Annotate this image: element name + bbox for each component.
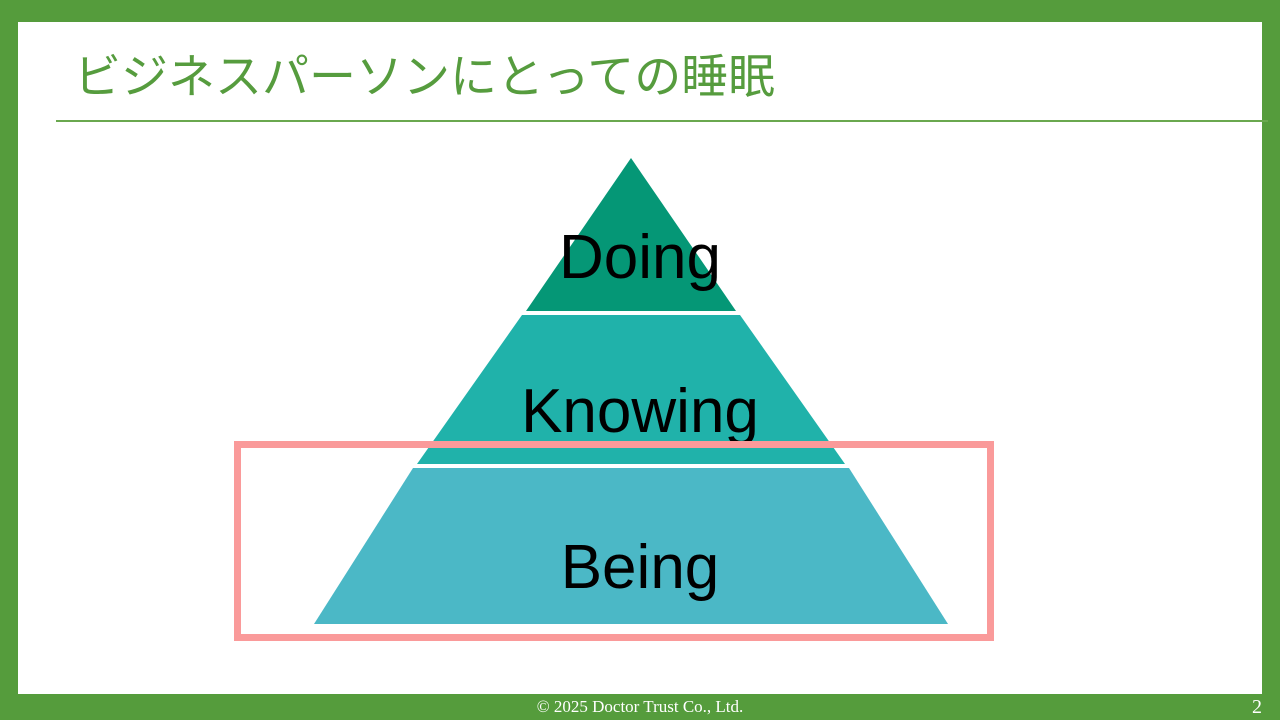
pyramid-tier-doing[interactable]	[526, 158, 736, 311]
page-number: 2	[1252, 694, 1262, 720]
slide: ビジネスパーソンにとっての睡眠 Doing Knowing Being © 20…	[0, 0, 1280, 720]
being-highlight-box	[234, 441, 994, 641]
slide-content-panel: ビジネスパーソンにとっての睡眠 Doing Knowing Being	[18, 22, 1262, 694]
footer-bar: © 2025 Doctor Trust Co., Ltd. 2	[0, 694, 1280, 720]
pyramid-diagram: Doing Knowing Being	[18, 22, 1262, 694]
footer-copyright: © 2025 Doctor Trust Co., Ltd.	[0, 695, 1280, 719]
